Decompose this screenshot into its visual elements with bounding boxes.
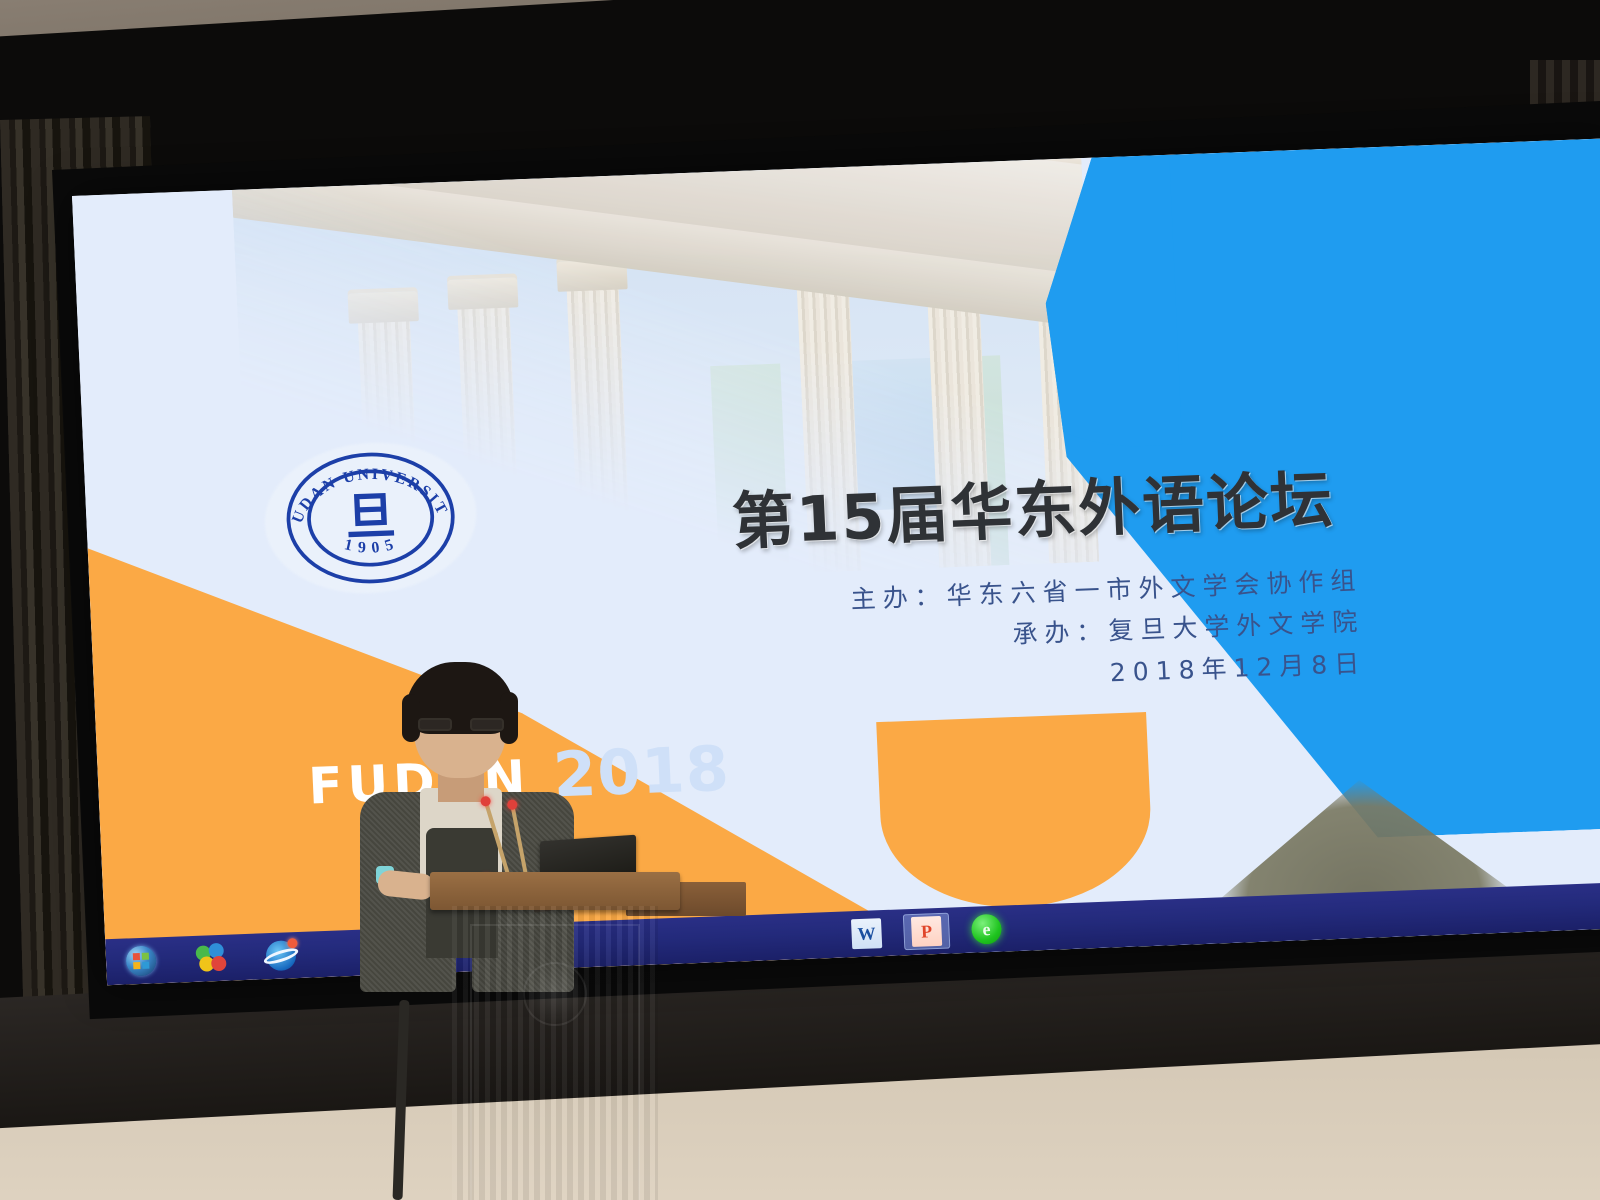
internet-explorer-icon[interactable]: [265, 940, 296, 971]
eyeglasses: [418, 718, 504, 732]
taskbar-button-word[interactable]: W: [843, 915, 891, 953]
conference-hall-scene: FUDAN UNIVERSITY 1905 旦 第15届华东外语论坛 主办：华东…: [0, 0, 1600, 1200]
seal-artwork: FUDAN UNIVERSITY 1905 旦: [272, 444, 470, 591]
word-icon[interactable]: W: [851, 918, 882, 949]
word-icon-glyph: W: [857, 923, 876, 945]
lectern-top: [430, 872, 680, 910]
taskbar-window-buttons[interactable]: W P e: [843, 910, 1010, 952]
lectern-body: [452, 906, 658, 1200]
powerpoint-slide: FUDAN UNIVERSITY 1905 旦 第15届华东外语论坛 主办：华东…: [72, 138, 1600, 985]
slide-orange-rounded-tab: [876, 712, 1154, 912]
slide-subtitle-block: 主办：华东六省一市外文学会协作组 承办：复旦大学外文学院 2018年12月8日: [850, 560, 1367, 703]
start-orb-icon[interactable]: [125, 945, 156, 976]
powerpoint-icon-glyph: P: [921, 921, 933, 942]
taskbar-button-green-browser[interactable]: e: [963, 910, 1011, 948]
taskbar-button-powerpoint[interactable]: P: [903, 913, 951, 951]
wooden-lectern: [430, 872, 680, 1200]
taskbar-quicklaunch[interactable]: [113, 940, 296, 977]
svg-text:旦: 旦: [344, 486, 397, 547]
sogou-browser-icon[interactable]: [195, 943, 226, 974]
powerpoint-icon[interactable]: P: [911, 916, 942, 947]
green-e-icon-glyph: e: [982, 919, 991, 940]
lectern-emblem: [523, 962, 587, 1026]
projection-screen: FUDAN UNIVERSITY 1905 旦 第15届华东外语论坛 主办：华东…: [72, 138, 1600, 985]
fudan-university-seal: FUDAN UNIVERSITY 1905 旦: [261, 439, 480, 597]
green-e-icon[interactable]: e: [971, 914, 1002, 945]
